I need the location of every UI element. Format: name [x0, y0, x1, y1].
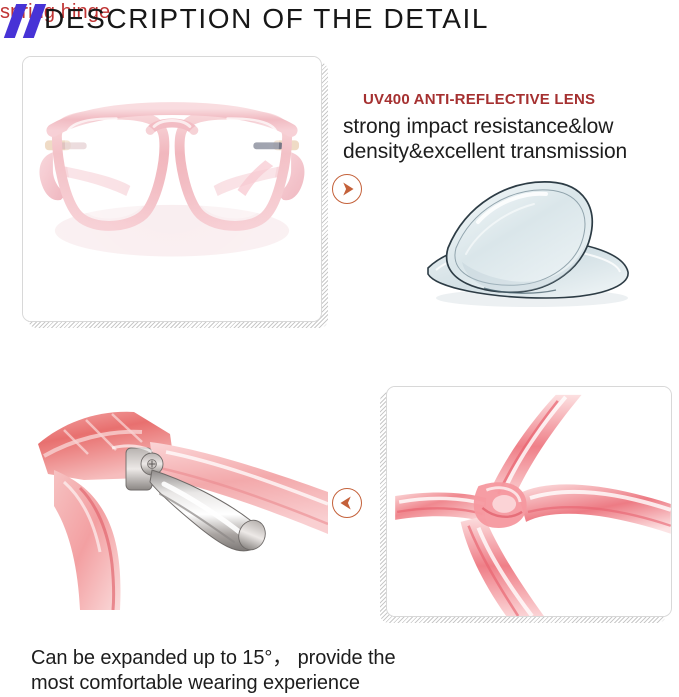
lens-description-line-2: density&excellent transmission: [343, 139, 679, 164]
double-slash-icon: [4, 4, 48, 38]
hinge-description: Can be expanded up to 15°， provide the m…: [31, 646, 481, 696]
arrow-right-icon: [332, 174, 362, 204]
hinge-description-line-1: Can be expanded up to 15°， provide the: [31, 646, 481, 671]
image-panel-glasses-front: [22, 56, 322, 322]
page-header: DESCRIPTION OF THE DETAIL: [0, 0, 679, 46]
photo-frame-bridge: [387, 387, 671, 616]
lens-heading: UV400 ANTI-REFLECTIVE LENS: [363, 90, 595, 110]
page-title: DESCRIPTION OF THE DETAIL: [44, 1, 489, 37]
lens-description-line-1: strong impact resistance&low: [343, 114, 679, 139]
arrow-left-icon: [332, 488, 362, 518]
photo-lens-pair: [392, 176, 676, 312]
product-detail-page: DESCRIPTION OF THE DETAIL: [0, 0, 679, 697]
hinge-description-line-2: most comfortable wearing experience: [31, 671, 481, 696]
lens-description: strong impact resistance&low density&exc…: [343, 114, 679, 164]
photo-spring-hinge: [24, 388, 328, 610]
photo-glasses-front: [23, 57, 321, 321]
image-panel-frame-bridge: [386, 386, 672, 617]
